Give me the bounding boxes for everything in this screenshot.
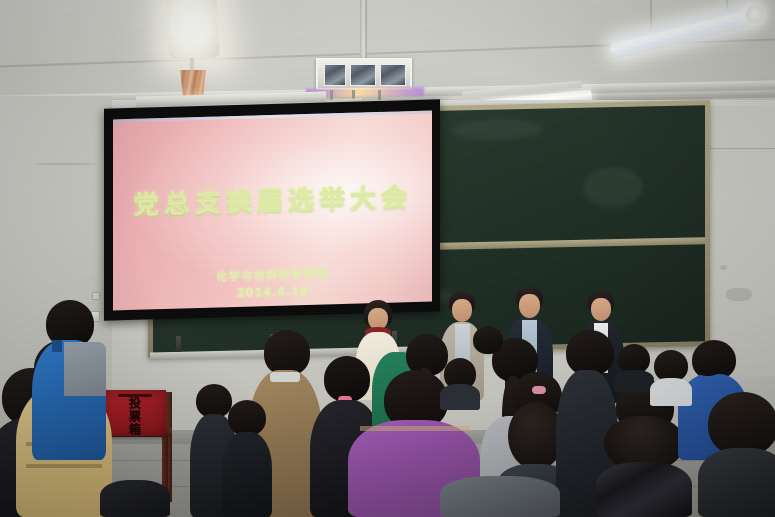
tray-bracket (176, 336, 181, 352)
jacket-shoulder-panel (64, 342, 106, 396)
audience-member (100, 480, 170, 517)
light-top (650, 378, 692, 406)
jacket (222, 432, 272, 517)
audience-member (32, 300, 106, 460)
wall-scuff (726, 288, 752, 301)
audience-member (690, 348, 728, 392)
jacket-collar-trim (360, 426, 470, 431)
audience-member (650, 350, 692, 406)
shirt-collar (270, 372, 300, 382)
audience-member (440, 476, 560, 517)
projection-screen: 党总支换届选举大会 化学与材料科学学院 2014.4.15 (104, 99, 440, 320)
hair (228, 400, 266, 436)
audience-member (222, 400, 272, 517)
projector-cage-window (380, 64, 406, 86)
jacket-seam (26, 464, 102, 468)
hair (708, 392, 775, 456)
jacket (100, 480, 170, 517)
chalk-smudge (583, 167, 643, 208)
hair (473, 326, 503, 354)
ceiling-lamp-left (166, 0, 220, 58)
wall-outlet[interactable] (92, 292, 100, 300)
lamp-stem (190, 58, 194, 72)
chalk-smudge (453, 119, 543, 141)
projector-mount-rod (360, 0, 367, 58)
projector-cage-window (324, 64, 346, 86)
shiny-black-jacket (596, 462, 692, 517)
projector-cage-window (350, 64, 376, 86)
wall-scuff (36, 163, 96, 165)
light-hanger-wire (650, 0, 652, 30)
wall-scuff (720, 265, 727, 270)
grey-jacket (440, 476, 560, 517)
face (519, 294, 540, 318)
face (452, 299, 472, 322)
projected-slide: 党总支换届选举大会 化学与材料科学学院 2014.4.15 (113, 111, 432, 311)
projector-cage (316, 58, 412, 90)
face (591, 298, 611, 321)
hair (693, 348, 723, 376)
audience-member (470, 326, 506, 370)
right-wall (706, 106, 775, 376)
collar (52, 340, 62, 352)
audience-member (698, 392, 775, 517)
ballot-box-label: 投票箱 (127, 397, 144, 436)
audience-member (614, 344, 654, 392)
ballot-box: 投票箱 (104, 390, 166, 436)
classroom-photo: 党总支换届选举大会 化学与材料科学学院 2014.4.15 (0, 0, 775, 517)
jacket (698, 448, 775, 517)
screen-top-highlight (113, 111, 432, 123)
jacket (614, 370, 654, 392)
wall-seam (700, 148, 775, 149)
slide-title: 党总支换届选举大会 (113, 177, 432, 223)
jacket (440, 384, 480, 410)
hair-scrunchie (532, 386, 546, 394)
